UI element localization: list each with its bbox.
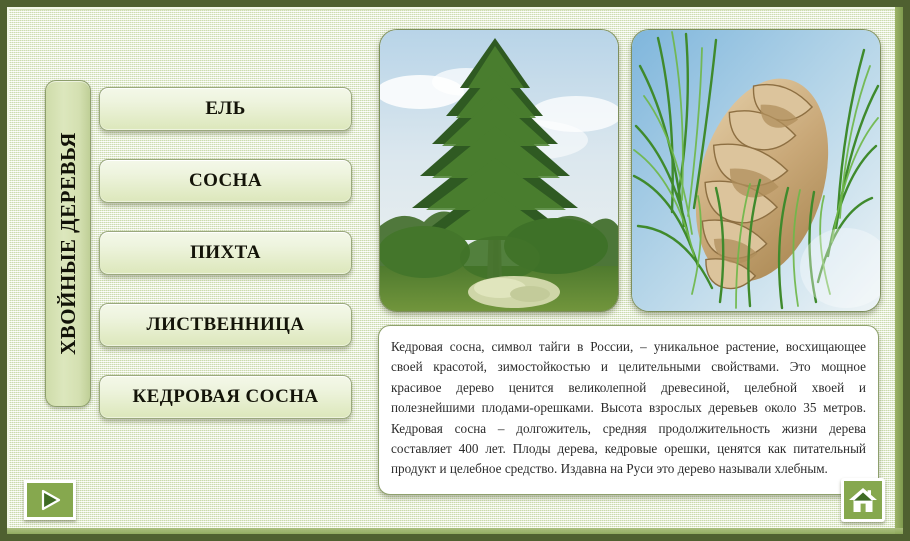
right-accent-stripe xyxy=(895,7,903,534)
menu-item-label: СОСНА xyxy=(189,170,262,192)
tree-menu-list: ЕЛЬ СОСНА ПИХТА ЛИСТВЕННИЦА КЕДРОВАЯ СОС… xyxy=(99,87,352,447)
next-slide-button[interactable] xyxy=(24,480,76,520)
pine-cone-photo xyxy=(631,29,881,312)
sidebar-vertical-title-text: ХВОЙНЫЕ ДЕРЕВЬЯ xyxy=(56,132,81,355)
bottom-accent-stripe xyxy=(7,528,903,534)
slide-root: ХВОЙНЫЕ ДЕРЕВЬЯ ЕЛЬ СОСНА ПИХТА ЛИСТВЕНН… xyxy=(0,0,910,541)
menu-item-sosna[interactable]: СОСНА xyxy=(99,159,352,203)
cedar-pine-tree-illustration xyxy=(380,30,618,311)
menu-item-listvennica[interactable]: ЛИСТВЕННИЦА xyxy=(99,303,352,347)
description-panel: Кедровая сосна, символ тайги в России, –… xyxy=(378,325,879,495)
menu-item-label: ПИХТА xyxy=(190,242,261,264)
menu-item-el[interactable]: ЕЛЬ xyxy=(99,87,352,131)
sidebar-vertical-title-panel: ХВОЙНЫЕ ДЕРЕВЬЯ xyxy=(45,80,91,407)
play-triangle-icon xyxy=(38,488,62,512)
menu-item-kedrovaya-sosna[interactable]: КЕДРОВАЯ СОСНА xyxy=(99,375,352,419)
house-icon xyxy=(848,485,878,515)
menu-item-label: ЛИСТВЕННИЦА xyxy=(147,314,305,336)
frame-top-hairline xyxy=(7,7,903,10)
cedar-pine-tree-photo xyxy=(379,29,619,312)
menu-item-label: ЕЛЬ xyxy=(205,98,245,120)
description-text: Кедровая сосна, символ тайги в России, –… xyxy=(391,337,866,480)
home-button[interactable] xyxy=(841,478,885,522)
menu-item-label: КЕДРОВАЯ СОСНА xyxy=(132,386,318,408)
menu-item-pihta[interactable]: ПИХТА xyxy=(99,231,352,275)
pine-cone-illustration xyxy=(632,30,880,311)
